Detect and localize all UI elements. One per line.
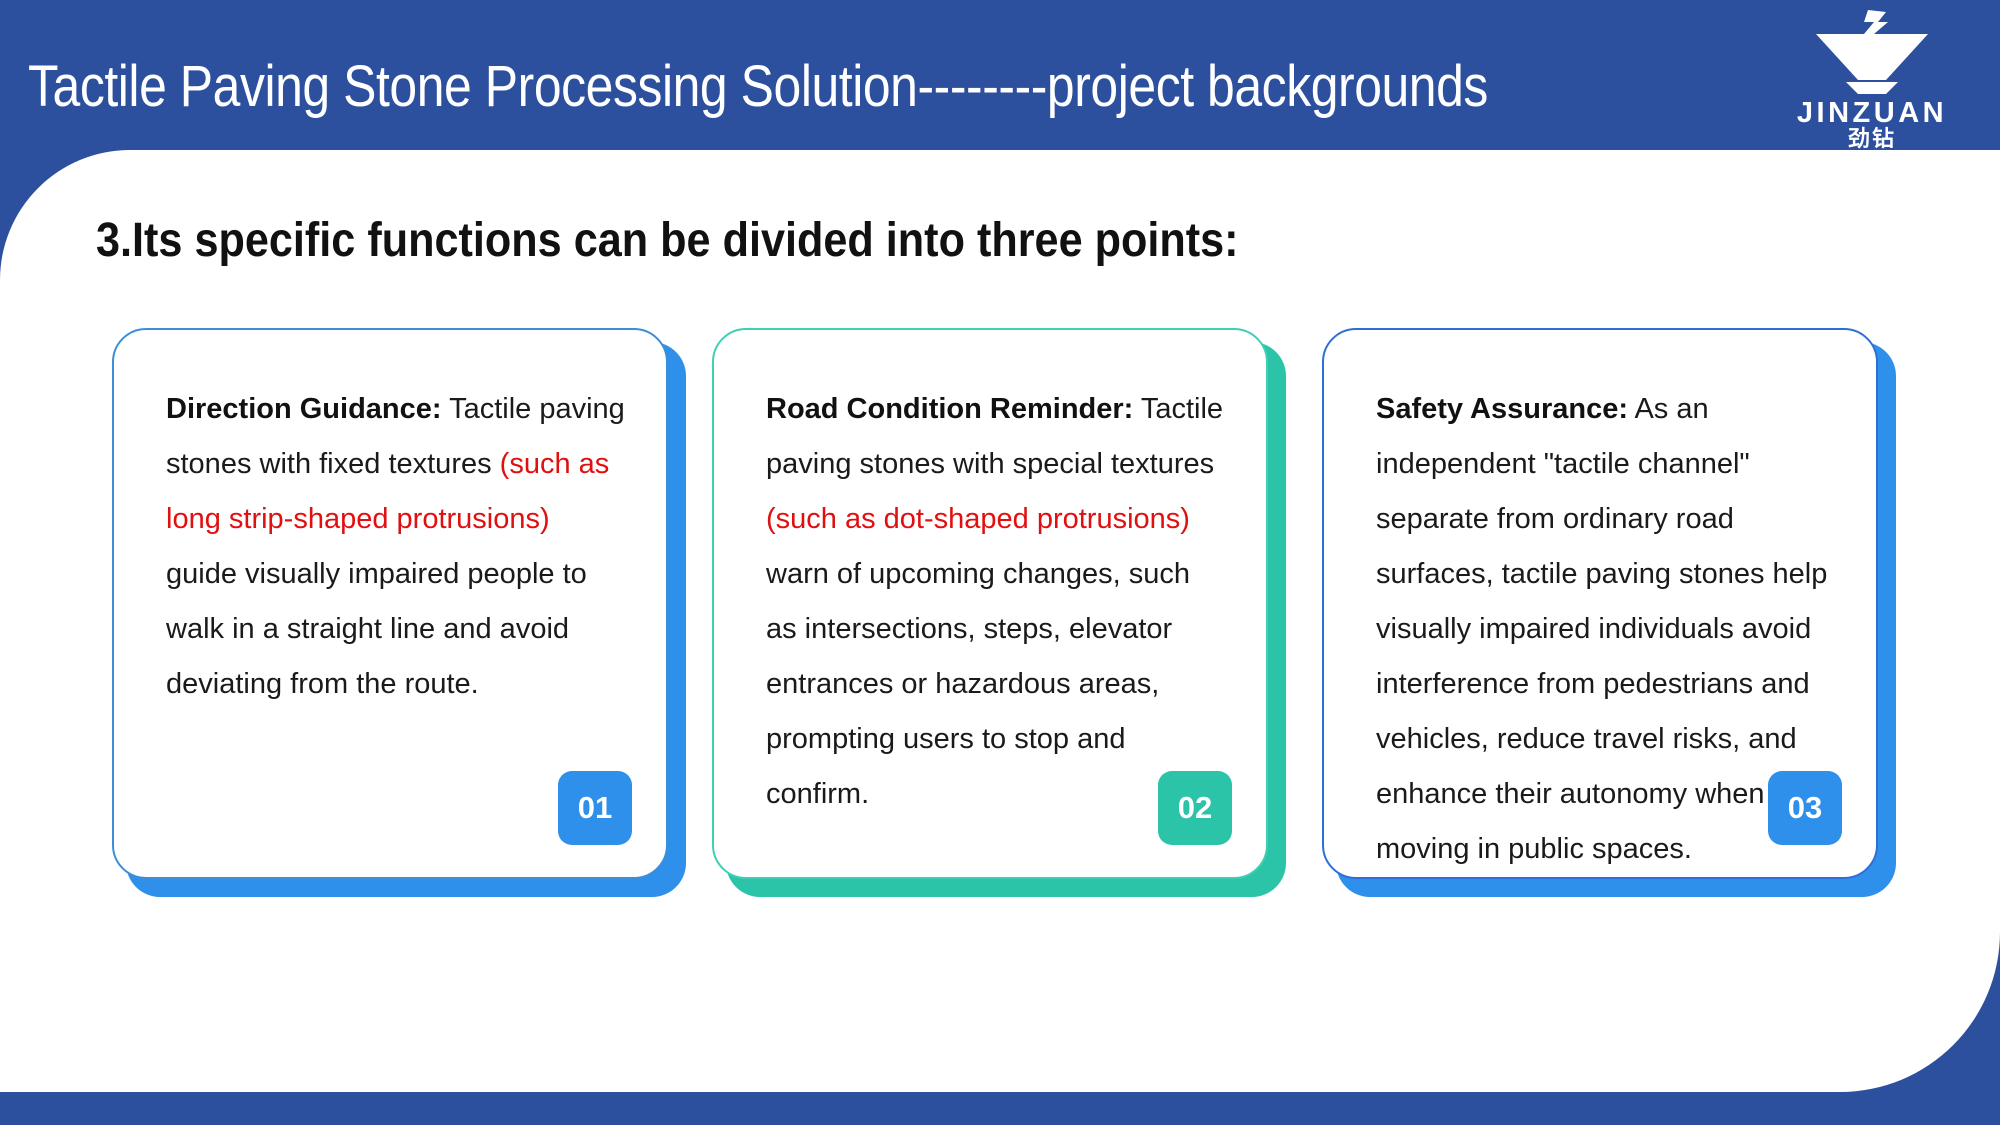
logo-chinese-name: 劲钻 [1782,128,1962,152]
bottom-bar [0,1092,2000,1125]
card-3-lead: Safety Assurance: [1376,393,1628,425]
card-2-lead: Road Condition Reminder: [766,393,1133,425]
card-1-body: Direction Guidance: Tactile paving stone… [166,382,626,712]
content-panel: 3.Its specific functions can be divided … [0,150,2000,1092]
card-3-number-badge: 03 [1768,771,1842,845]
card-3-text-before: As an independent "tactile channel" sepa… [1376,393,1827,865]
card-2-surface: Road Condition Reminder: Tactile paving … [712,328,1268,879]
logo-wordmark: JINZUAN [1782,98,1962,128]
cards-row: Direction Guidance: Tactile paving stone… [0,150,2000,1092]
card-1-surface: Direction Guidance: Tactile paving stone… [112,328,668,879]
card-1-number-badge: 01 [558,771,632,845]
card-1[interactable]: Direction Guidance: Tactile paving stone… [112,328,672,883]
slide-root: Tactile Paving Stone Processing Solution… [0,0,2000,1125]
card-1-text-after: guide visually impaired people to walk i… [166,558,587,700]
card-2-highlight: (such as dot-shaped protrusions) [766,503,1190,535]
card-3[interactable]: Safety Assurance: As an independent "tac… [1322,328,1882,883]
card-2-body: Road Condition Reminder: Tactile paving … [766,382,1226,822]
card-3-surface: Safety Assurance: As an independent "tac… [1322,328,1878,879]
company-logo: JINZUAN 劲钻 [1782,10,1962,140]
page-title: Tactile Paving Stone Processing Solution… [28,52,1488,122]
card-3-body: Safety Assurance: As an independent "tac… [1376,382,1836,877]
card-2[interactable]: Road Condition Reminder: Tactile paving … [712,328,1272,883]
card-1-lead: Direction Guidance: [166,393,442,425]
card-2-text-after: warn of upcoming changes, such as inters… [766,558,1190,810]
jinzuan-drill-v-logo-icon [1782,10,1962,98]
card-2-number-badge: 02 [1158,771,1232,845]
